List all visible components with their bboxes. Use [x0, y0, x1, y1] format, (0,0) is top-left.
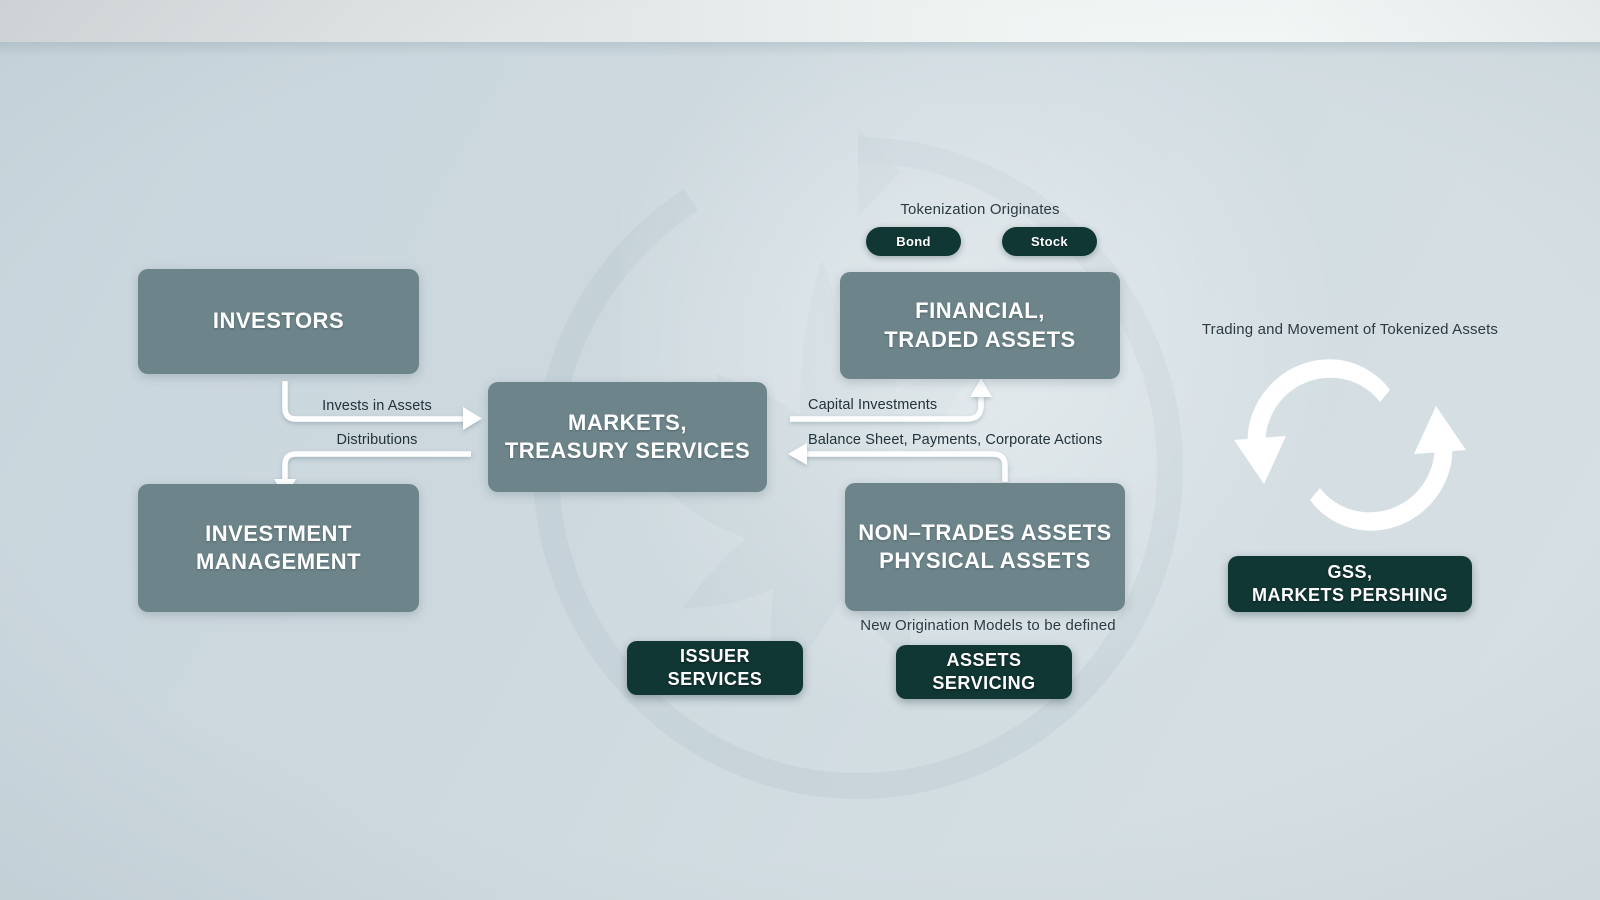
label-balance-sheet-payments: Balance Sheet, Payments, Corporate Actio… — [808, 432, 1102, 448]
node-financial-line1: FINANCIAL, — [915, 297, 1045, 325]
node-gss-line2: MARKETS PERSHING — [1252, 584, 1448, 607]
node-non-trades-line1: NON–TRADES ASSETS — [858, 519, 1111, 547]
node-investors-line1: INVESTORS — [213, 307, 344, 335]
node-markets-line1: MARKETS, — [568, 409, 687, 437]
diagram-canvas: INVESTORS INVESTMENT MANAGEMENT MARKETS,… — [0, 0, 1600, 900]
node-markets-treasury-services[interactable]: MARKETS, TREASURY SERVICES — [488, 382, 767, 492]
node-gss-markets-pershing[interactable]: GSS, MARKETS PERSHING — [1228, 556, 1472, 612]
node-assets-servicing-line1: ASSETS — [946, 649, 1021, 672]
node-investment-management-line2: MANAGEMENT — [196, 548, 361, 576]
node-financial-traded-assets[interactable]: FINANCIAL, TRADED ASSETS — [840, 272, 1120, 379]
top-strip-shadow — [0, 42, 1600, 56]
top-light-strip — [0, 0, 1600, 42]
node-financial-line2: TRADED ASSETS — [884, 326, 1075, 354]
caption-trading-and-movement: Trading and Movement of Tokenized Assets — [1202, 321, 1498, 338]
node-markets-line2: TREASURY SERVICES — [505, 437, 750, 465]
node-issuer-services[interactable]: ISSUER SERVICES — [627, 641, 803, 695]
refresh-cycle-icon — [1228, 352, 1472, 538]
label-distributions: Distributions — [336, 432, 417, 448]
node-investment-management[interactable]: INVESTMENT MANAGEMENT — [138, 484, 419, 612]
node-issuer-services-line1: ISSUER — [680, 645, 750, 668]
node-issuer-services-line2: SERVICES — [668, 668, 763, 691]
label-invests-in-assets: Invests in Assets — [322, 398, 432, 414]
pill-bond[interactable]: Bond — [866, 227, 961, 256]
node-non-trades-line2: PHYSICAL ASSETS — [879, 547, 1091, 575]
caption-tokenization-originates: Tokenization Originates — [900, 201, 1059, 218]
node-assets-servicing-line2: SERVICING — [932, 672, 1035, 695]
node-investors[interactable]: INVESTORS — [138, 269, 419, 374]
node-assets-servicing[interactable]: ASSETS SERVICING — [896, 645, 1072, 699]
pill-stock[interactable]: Stock — [1002, 227, 1097, 256]
pill-bond-label: Bond — [896, 234, 930, 249]
caption-new-origination-models: New Origination Models to be defined — [860, 617, 1116, 634]
label-capital-investments: Capital Investments — [808, 397, 937, 413]
pill-stock-label: Stock — [1031, 234, 1068, 249]
node-investment-management-line1: INVESTMENT — [205, 520, 352, 548]
node-gss-line1: GSS, — [1327, 561, 1372, 584]
node-non-trades-physical-assets[interactable]: NON–TRADES ASSETS PHYSICAL ASSETS — [845, 483, 1125, 611]
